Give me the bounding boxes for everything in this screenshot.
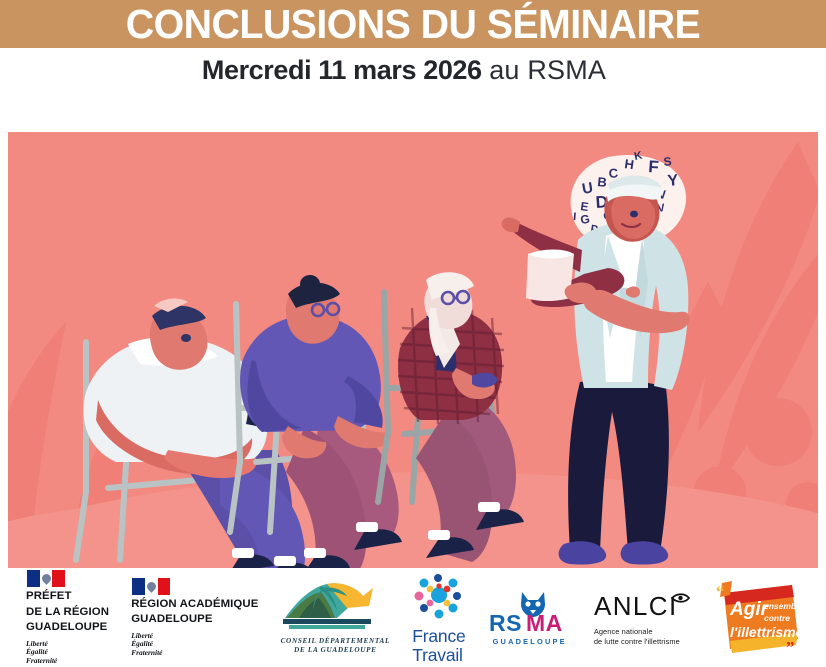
subtitle-line: de lutte contre l'illettrisme bbox=[594, 637, 690, 646]
wordmark-line: France bbox=[412, 627, 465, 646]
poster-root: CONCLUSIONS DU SÉMINAIRE Mercredi 11 mar… bbox=[0, 0, 826, 667]
rsma-subtitle: GUADELOUPE bbox=[488, 637, 572, 646]
logo-rsma-guadeloupe: RS MA GUADELOUPE bbox=[488, 590, 572, 646]
republic-motto: Liberté Égalité Fraternité bbox=[131, 632, 258, 657]
svg-text:MA: MA bbox=[526, 610, 563, 636]
rsma-logo-icon: RS MA bbox=[488, 590, 572, 636]
logo-agir-ensemble-contre-illettrisme: “ ” Agir ensemble contre l'illettrisme bbox=[712, 581, 804, 655]
svg-text:”: ” bbox=[786, 638, 795, 655]
event-subtitle: Mercredi 11 mars 2026 au RSMA bbox=[0, 52, 826, 88]
subtitle-line: Agence nationale bbox=[594, 627, 690, 636]
poster-header: CONCLUSIONS DU SÉMINAIRE Mercredi 11 mar… bbox=[0, 0, 826, 132]
logo-name-line: GUADELOUPE bbox=[26, 621, 109, 634]
wordmark-line: Travail bbox=[412, 646, 465, 665]
page-title: CONCLUSIONS DU SÉMINAIRE bbox=[17, 1, 810, 47]
logo-conseil-departemental-guadeloupe: CONSEIL DÉPARTEMENTAL DE LA GUADELOUPE bbox=[281, 580, 391, 655]
logo-name-line: GUADELOUPE bbox=[131, 613, 258, 626]
svg-text:“: “ bbox=[716, 582, 725, 601]
caption-line: DE LA GUADELOUPE bbox=[281, 646, 391, 655]
event-venue: au RSMA bbox=[489, 55, 606, 85]
svg-text:S: S bbox=[663, 154, 672, 169]
logo-prefet-region-guadeloupe: PRÉFET DE LA RÉGION GUADELOUPE Liberté É… bbox=[26, 570, 109, 665]
svg-text:RS: RS bbox=[489, 610, 522, 636]
motto-line: Fraternité bbox=[131, 649, 258, 657]
svg-text:ANLCI: ANLCI bbox=[594, 591, 678, 621]
france-travail-wordmark: France Travail bbox=[412, 627, 465, 665]
banner-line-4: l'illettrisme bbox=[730, 624, 804, 640]
svg-text:F: F bbox=[648, 157, 660, 177]
agir-banner-icon: “ ” Agir ensemble contre l'illettrisme bbox=[712, 581, 804, 655]
illustration-canvas: U B C H K F S E D A O Z Y G R bbox=[8, 132, 818, 568]
caption-line: CONSEIL DÉPARTEMENTAL bbox=[281, 637, 391, 646]
anlci-subtitle: Agence nationale de lutte contre l'illet… bbox=[594, 627, 690, 645]
banner-line-2: ensemble bbox=[764, 601, 803, 611]
french-flag-icon bbox=[27, 570, 65, 587]
partner-logos-bar: PRÉFET DE LA RÉGION GUADELOUPE Liberté É… bbox=[0, 568, 826, 667]
motto-line: Fraternité bbox=[26, 657, 109, 665]
svg-text:B: B bbox=[597, 174, 608, 190]
logo-name-line: DE LA RÉGION bbox=[26, 606, 109, 619]
event-date: Mercredi 11 mars 2026 bbox=[202, 55, 482, 85]
french-flag-icon bbox=[132, 578, 170, 595]
seminar-illustration: U B C H K F S E D A O Z Y G R bbox=[8, 132, 818, 568]
logo-caption: CONSEIL DÉPARTEMENTAL DE LA GUADELOUPE bbox=[281, 637, 391, 655]
logo-name-line: PRÉFET bbox=[26, 590, 109, 603]
svg-text:G: G bbox=[579, 212, 590, 227]
republic-motto: Liberté Égalité Fraternité bbox=[26, 640, 109, 665]
logo-name-line: RÉGION ACADÉMIQUE bbox=[131, 598, 258, 611]
banner-line-3: contre bbox=[764, 613, 790, 623]
guadeloupe-emblem-icon bbox=[281, 580, 377, 634]
logo-anlci: ANLCI Agence nationale de lutte contre l… bbox=[594, 589, 690, 645]
anlci-wordmark-icon: ANLCI bbox=[594, 589, 690, 623]
logo-region-academique-guadeloupe: RÉGION ACADÉMIQUE GUADELOUPE Liberté Éga… bbox=[131, 578, 258, 657]
svg-text:Y: Y bbox=[667, 172, 679, 190]
logo-france-travail: France Travail bbox=[412, 570, 465, 665]
france-travail-dots-icon bbox=[413, 570, 465, 620]
